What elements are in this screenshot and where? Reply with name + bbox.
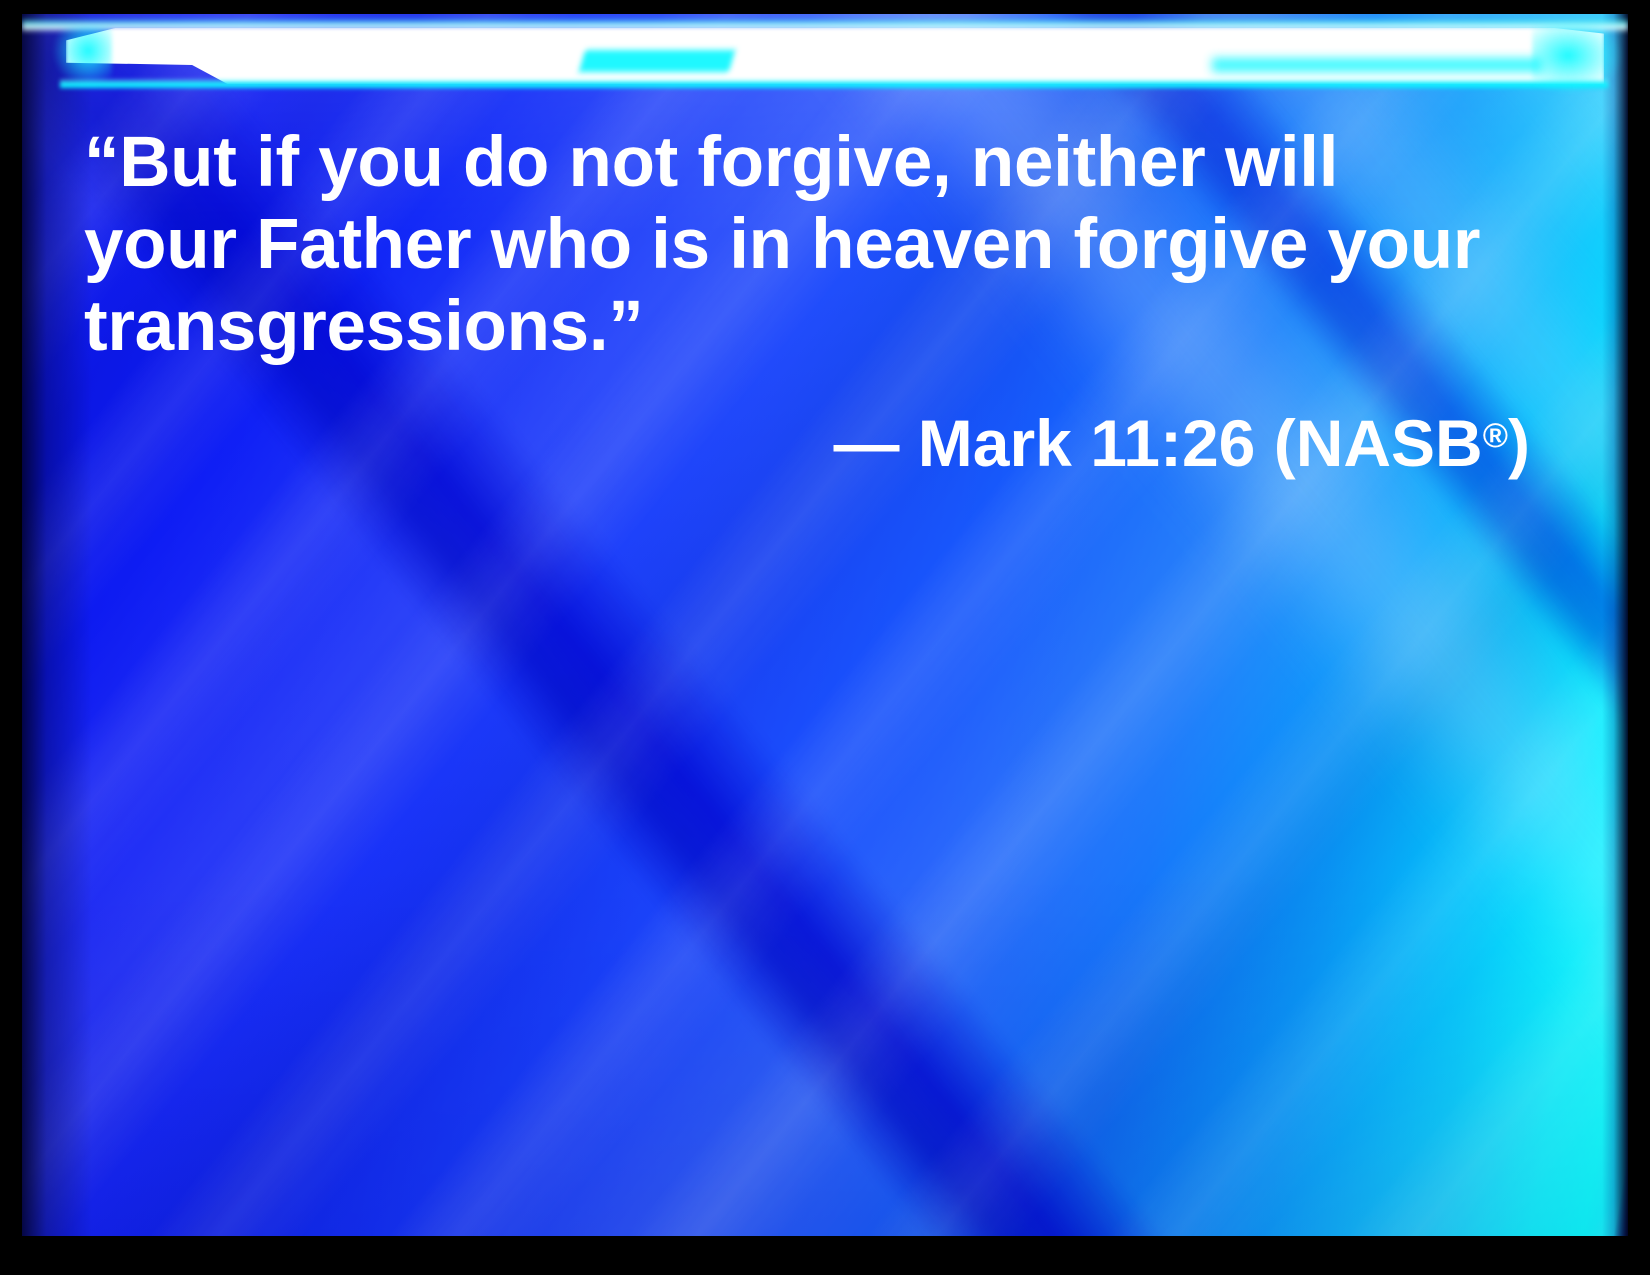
header-glow-band <box>22 14 1628 96</box>
band-left-glow <box>52 26 112 88</box>
band-white-bar <box>66 28 1604 84</box>
verse-block: “But if you do not forgive, neither will… <box>84 122 1554 481</box>
verse-attribution: — Mark 11:26 (NASB®) <box>84 398 1554 481</box>
registered-trademark-icon: ® <box>1483 417 1508 455</box>
background-left-falloff <box>22 14 92 1236</box>
band-cyan-highlight-1 <box>579 50 735 72</box>
band-cyan-bottom-edge <box>60 79 1608 88</box>
verse-attribution-suffix: ) <box>1508 406 1530 480</box>
background-right-falloff <box>1602 14 1628 1236</box>
band-cyan-highlight-2 <box>1212 58 1542 72</box>
band-right-glow <box>1532 24 1622 94</box>
verse-attribution-prefix: — Mark 11:26 (NASB <box>833 406 1482 480</box>
slide-frame: “But if you do not forgive, neither will… <box>0 0 1650 1275</box>
verse-text: “But if you do not forgive, neither will… <box>84 122 1494 368</box>
slide-canvas: “But if you do not forgive, neither will… <box>22 14 1628 1236</box>
